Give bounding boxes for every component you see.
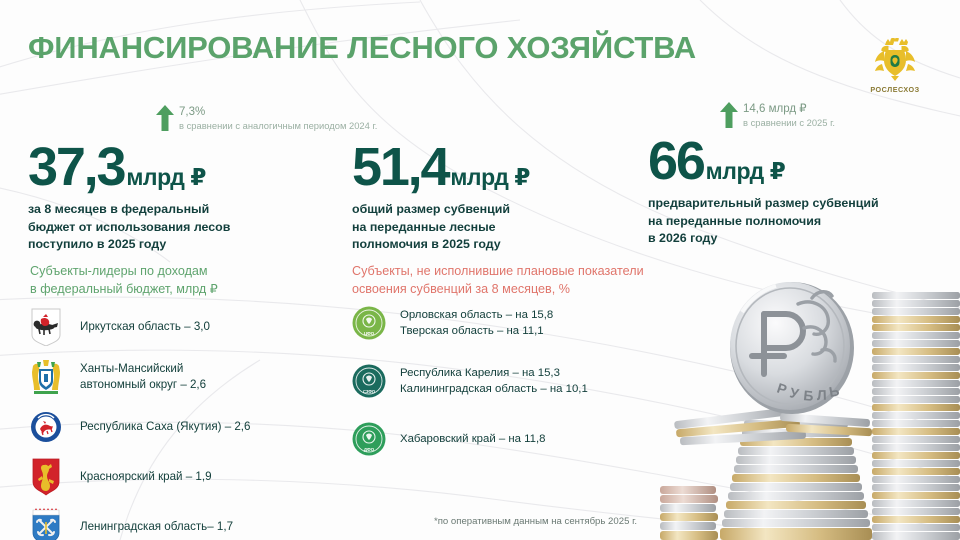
stat-3-delta-note: в сравнении с 2025 г. [743,117,835,129]
infographic-page: ФИНАНСИРОВАНИЕ ЛЕСНОГО ХОЗЯЙСТВА [0,0,960,540]
stat-2-unit: млрд ₽ [450,164,530,191]
list-item-label: Иркутская область – 3,0 [80,319,210,335]
stat-1-unit: млрд ₽ [126,164,206,191]
szfo-seal-icon: СЗФО [352,364,386,398]
stat-2-value-row: 51,4 млрд ₽ [352,140,642,194]
list-item: ДФО Хабаровский край – на 11,8 [352,422,588,456]
svg-text:Б: Б [803,387,815,404]
sakha-yakutia-coat-of-arms-icon [30,408,62,446]
svg-text:Л: Л [817,387,827,403]
region-income-list: Иркутская область – 3,0 Ханты-Мансийский… [30,304,250,540]
arrow-up-icon [156,105,174,131]
list-item: ЦФО Орловская область – на 15,8 Тверская… [352,306,588,340]
stat-block-1: 7,3% в сравнении с аналогичным периодом … [28,140,338,254]
khanty-mansi-coat-of-arms-icon [30,358,62,396]
stat-block-2: 51,4 млрд ₽ общий размер субвенций на пе… [352,140,642,254]
cfo-seal-icon: ЦФО [352,306,386,340]
krasnoyarsk-coat-of-arms-icon [30,458,62,496]
logo-caption: РОСЛЕСХОЗ [858,85,932,94]
stat-3-delta: 14,6 млрд ₽ в сравнении с 2025 г. [720,102,835,129]
stat-3-description: предварительный размер субвенций на пере… [648,195,948,248]
stat-3-value-row: 66 млрд ₽ [648,134,948,188]
list-item: СЗФО Республика Карелия – на 15,3 Калини… [352,364,588,398]
stat-1-value-row: 37,3 млрд ₽ [28,140,338,194]
svg-text:ЦФО: ЦФО [364,331,375,336]
list-item-label: Орловская область – на 15,8 Тверская обл… [400,307,553,339]
underperforming-regions-list: ЦФО Орловская область – на 15,8 Тверская… [352,306,588,480]
stat-1-delta: 7,3% в сравнении с аналогичным периодом … [156,105,377,132]
page-title: ФИНАНСИРОВАНИЕ ЛЕСНОГО ХОЗЯЙСТВА [28,30,696,66]
list-item: Республика Саха (Якутия) – 2,6 [30,404,250,449]
list-item-label: Ханты-Мансийский автономный округ – 2,6 [80,361,206,392]
stat-2-value: 51,4 [352,140,448,194]
stat-2-description: общий размер субвенций на переданные лес… [352,201,642,254]
svg-text:ДФО: ДФО [364,447,375,452]
list-item-label: Красноярский край – 1,9 [80,469,212,485]
arrow-up-icon [720,102,738,128]
list-item: Ленинградская область– 1,7 [30,504,250,540]
list-item: Иркутская область – 3,0 [30,304,250,349]
list-item-label: Ленинградская область– 1,7 [80,519,233,535]
stat-1-delta-note: в сравнении с аналогичным периодом 2024 … [179,120,377,132]
stat-1-description: за 8 месяцев в федеральный бюджет от исп… [28,201,338,254]
left-column-header: Субъекты-лидеры по доходам в федеральный… [30,263,218,299]
list-item: Красноярский край – 1,9 [30,454,250,499]
double-headed-eagle-icon [873,38,917,84]
stat-1-delta-value: 7,3% [179,105,377,120]
list-item-label: Республика Саха (Якутия) – 2,6 [80,419,250,435]
stat-3-value: 66 [648,134,704,188]
stat-3-delta-value: 14,6 млрд ₽ [743,102,835,117]
leningrad-coat-of-arms-icon [30,508,62,540]
dfo-seal-icon: ДФО [352,422,386,456]
stat-3-unit: млрд ₽ [706,158,786,185]
list-item-label: Республика Карелия – на 15,3 Калининград… [400,365,588,397]
rosleskhoz-logo: РОСЛЕСХОЗ [858,38,932,94]
svg-text:СЗФО: СЗФО [363,389,376,394]
stat-1-value: 37,3 [28,140,124,194]
list-item-label: Хабаровский край – на 11,8 [400,431,546,447]
ruble-coin-stacks-photo: Р У Б Л Ь [660,270,960,540]
stat-block-3: 14,6 млрд ₽ в сравнении с 2025 г. 66 млр… [648,134,948,248]
list-item: Ханты-Мансийский автономный округ – 2,6 [30,354,250,399]
irkutsk-coat-of-arms-icon [30,308,62,346]
footnote: *по оперативным данным на сентябрь 2025 … [434,516,637,527]
middle-column-header: Субъекты, не исполнившие плановые показа… [352,263,644,299]
